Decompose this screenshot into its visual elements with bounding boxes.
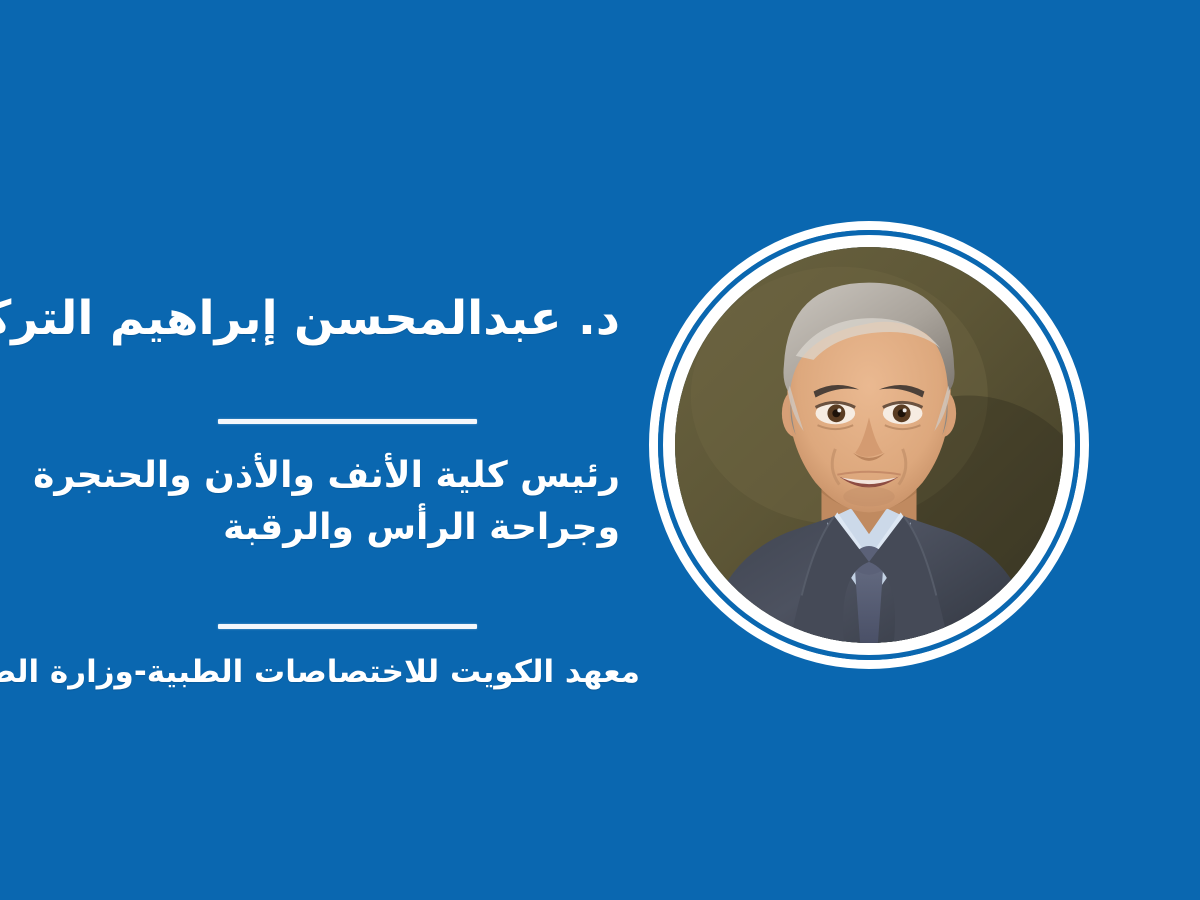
person-role-line-1: رئيس كلية الأنف والأذن والحنجرة xyxy=(0,450,620,502)
profile-text-block: د. عبدالمحسن إبراهيم التركي رئيس كلية ال… xyxy=(0,290,670,349)
divider-bottom xyxy=(218,624,477,629)
portrait-photo xyxy=(675,247,1063,643)
divider-top xyxy=(218,419,477,424)
person-name: د. عبدالمحسن إبراهيم التركي xyxy=(0,290,670,349)
person-role: رئيس كلية الأنف والأذن والحنجرة وجراحة ا… xyxy=(0,450,620,554)
person-role-line-2: وجراحة الرأس والرقبة xyxy=(0,502,620,554)
portrait-medallion xyxy=(649,221,1089,669)
profile-card: د. عبدالمحسن إبراهيم التركي رئيس كلية ال… xyxy=(0,0,1200,900)
person-affiliation: معهد الكويت للاختصاصات الطبية-وزارة الصح… xyxy=(0,652,670,694)
